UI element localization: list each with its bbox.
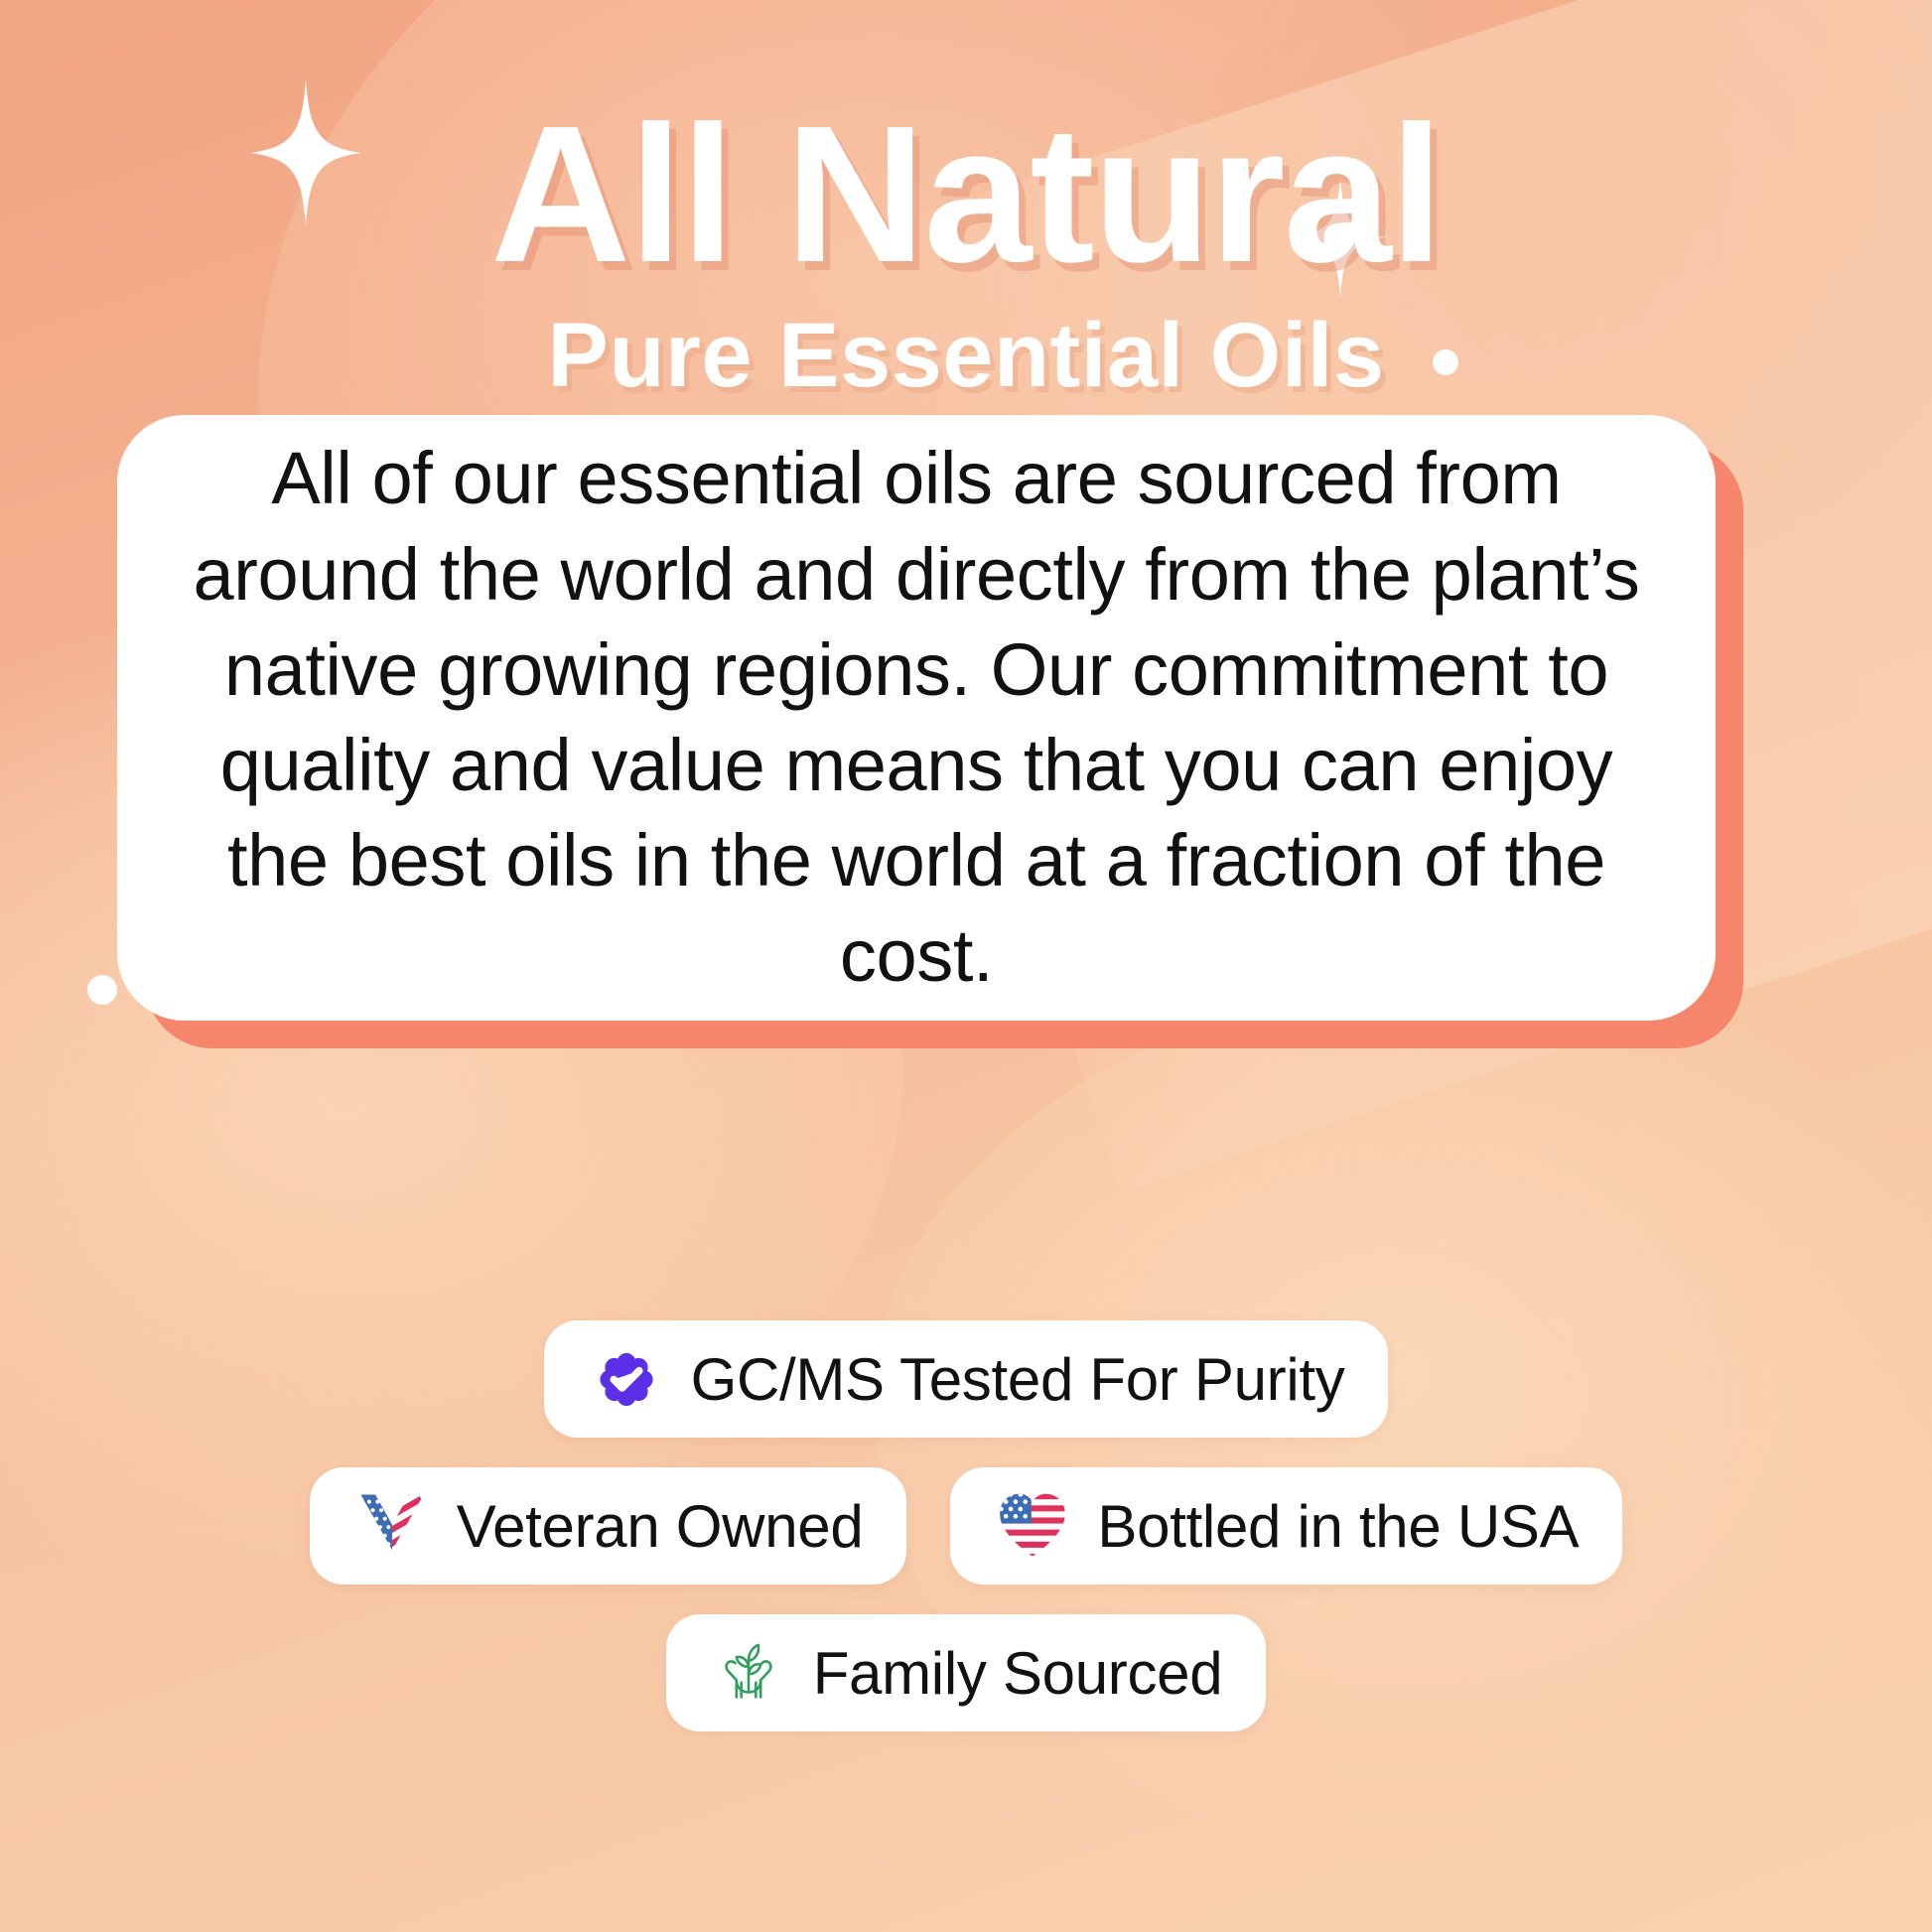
hands-holding-seedling-icon [710,1634,787,1712]
badge-family-sourced[interactable]: Family Sourced [666,1614,1267,1731]
badge-label: Family Sourced [813,1639,1223,1708]
chevron-us-flag-icon [353,1487,431,1565]
heart-us-flag-icon [994,1487,1071,1565]
description-card: All of our essential oils are sourced fr… [117,415,1716,1021]
decorative-dot-left [87,975,117,1005]
description-text: All of our essential oils are sourced fr… [179,431,1654,1004]
verified-check-badge-icon [588,1340,665,1418]
badge-label: Bottled in the USA [1097,1492,1579,1561]
badge-label: GC/MS Tested For Purity [691,1345,1345,1414]
description-card-wrapper: All of our essential oils are sourced fr… [117,415,1825,1021]
badge-row-1: GC/MS Tested For Purity [0,1320,1932,1438]
page-subtitle: Pure Essential Oils [0,306,1932,406]
badge-row-3: Family Sourced [0,1614,1932,1731]
trust-badges: GC/MS Tested For Purity [0,1320,1932,1761]
badge-label: Veteran Owned [457,1492,864,1561]
badge-bottled-in-usa[interactable]: Bottled in the USA [950,1467,1622,1585]
header: All Natural Pure Essential Oils [0,91,1932,406]
badge-veteran-owned[interactable]: Veteran Owned [310,1467,907,1585]
page-title: All Natural [0,91,1932,298]
badge-row-2: Veteran Owned [0,1467,1932,1585]
badge-gcms-tested[interactable]: GC/MS Tested For Purity [544,1320,1389,1438]
